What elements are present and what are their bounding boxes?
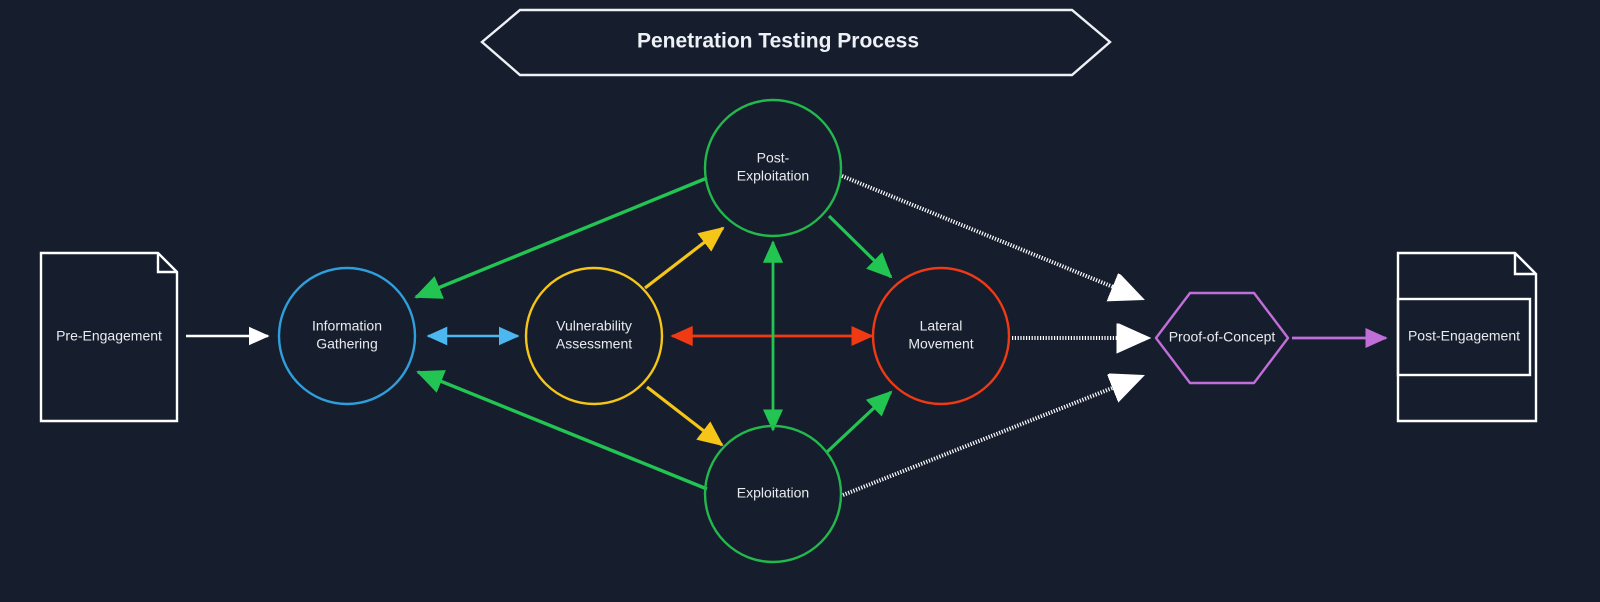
- post-engagement-inner-panel: [1398, 299, 1530, 375]
- vulnerability-assessment-circle-shape: [526, 268, 662, 404]
- edge-exp-to-info: [418, 372, 707, 489]
- node-lateral-movement[interactable]: Lateral Movement: [873, 268, 1009, 404]
- exploitation-circle-shape: [705, 426, 841, 562]
- post-engagement-label: Post-Engagement: [1408, 328, 1520, 344]
- diagram-title: Penetration Testing Process: [637, 30, 919, 53]
- proof-of-concept-label: Proof-of-Concept: [1169, 329, 1276, 345]
- vulnerability-assessment-label-line1: Vulnerability: [556, 318, 632, 334]
- lateral-movement-circle-shape: [873, 268, 1009, 404]
- post-engagement-document-shape: [1398, 253, 1536, 421]
- edge-vuln-to-exp: [647, 387, 722, 445]
- exploitation-label: Exploitation: [737, 485, 809, 501]
- pre-engagement-document-shape: [41, 253, 177, 421]
- penetration-testing-flowchart: Penetration Testing Process: [0, 0, 1600, 602]
- diagram-canvas: Penetration Testing Process: [0, 0, 1600, 602]
- lateral-movement-label-line2: Movement: [908, 336, 973, 352]
- node-pre-engagement[interactable]: Pre-Engagement: [41, 253, 177, 421]
- information-gathering-label-line1: Information: [312, 318, 382, 334]
- edge-vuln-to-postexp: [645, 228, 723, 288]
- vulnerability-assessment-label-line2: Assessment: [556, 336, 632, 352]
- proof-of-concept-hexagon-shape: [1156, 293, 1288, 383]
- post-exploitation-circle-shape: [705, 100, 841, 236]
- information-gathering-circle-shape: [279, 268, 415, 404]
- edge-layer: [186, 176, 1386, 495]
- node-proof-of-concept[interactable]: Proof-of-Concept: [1156, 293, 1288, 383]
- edge-postexp-to-lateral: [829, 216, 891, 277]
- edge-exp-to-lateral: [827, 392, 891, 452]
- node-vulnerability-assessment[interactable]: Vulnerability Assessment: [526, 268, 662, 404]
- lateral-movement-label-line1: Lateral: [920, 318, 963, 334]
- pre-engagement-label: Pre-Engagement: [56, 328, 162, 344]
- edge-postexp-to-poc: [842, 176, 1140, 298]
- node-exploitation[interactable]: Exploitation: [705, 426, 841, 562]
- post-exploitation-label-line2: Exploitation: [737, 168, 809, 184]
- node-post-engagement[interactable]: Post-Engagement: [1398, 253, 1536, 421]
- node-post-exploitation[interactable]: Post- Exploitation: [705, 100, 841, 236]
- diagram-title-banner: Penetration Testing Process: [482, 10, 1110, 75]
- edge-postexp-to-info: [416, 178, 707, 297]
- node-information-gathering[interactable]: Information Gathering: [279, 268, 415, 404]
- information-gathering-label-line2: Gathering: [316, 336, 377, 352]
- post-exploitation-label-line1: Post-: [757, 150, 790, 166]
